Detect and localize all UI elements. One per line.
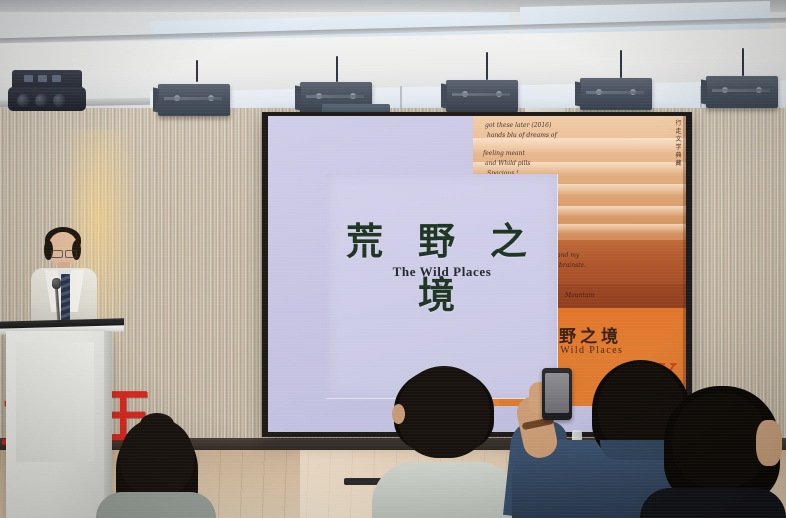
- light-knob-icon: [462, 91, 468, 97]
- slide-english-title: The Wild Places: [328, 264, 556, 280]
- audience-front-left-body: [96, 492, 216, 518]
- handwriting-line: and Whild pills: [485, 160, 530, 167]
- speaker-tie: [61, 274, 70, 322]
- light-knob-icon: [630, 89, 636, 95]
- light-knob-icon: [208, 95, 214, 101]
- ceiling-projector: [8, 70, 86, 112]
- speaker-glasses-icon: [51, 250, 63, 258]
- speaker-glasses-icon: [65, 250, 77, 258]
- handwriting-line: and my: [557, 252, 579, 259]
- stage-light-5: [706, 76, 778, 108]
- cover-edge-line: [683, 116, 686, 406]
- audience-right-face: [756, 420, 782, 466]
- stage-light-1: [158, 84, 230, 116]
- audience-center-left-head: [398, 366, 490, 458]
- light-knob-icon: [350, 93, 356, 99]
- handwriting-line: Mountain: [565, 292, 594, 299]
- light-cable: [620, 50, 622, 78]
- smartphone-screen[interactable]: [545, 373, 569, 413]
- handwriting-line: feeling meant: [483, 150, 525, 157]
- lecture-hall-photo: 麦 法 荒野之境 The Wild Places 自然写作自 文学 行走文学典藏…: [0, 0, 786, 518]
- projector-panel-icon: [24, 75, 33, 82]
- handwriting-line: brainste.: [559, 262, 586, 269]
- audience-front-left-head: [120, 418, 194, 496]
- stage-light-3: [446, 80, 518, 112]
- light-cable: [742, 48, 744, 76]
- light-knob-icon: [174, 95, 180, 101]
- light-cable: [336, 56, 338, 82]
- slide-dot: [440, 284, 442, 286]
- audience-center-left-ear: [392, 404, 405, 424]
- stage-light-4: [580, 78, 652, 110]
- podium-front-panel: [16, 342, 94, 462]
- light-cable: [196, 60, 198, 82]
- projector-panel-icon: [38, 75, 47, 82]
- projector-lens-icon: [35, 94, 48, 107]
- audience-right-body: [640, 488, 786, 518]
- microphone-icon: [52, 278, 61, 289]
- projector-panel-icon: [52, 75, 61, 82]
- light-knob-icon: [722, 87, 728, 93]
- light-knob-icon: [596, 89, 602, 95]
- light-cable: [486, 52, 488, 80]
- handwriting-line: got these later (2016): [485, 122, 551, 129]
- light-knob-icon: [316, 93, 322, 99]
- light-knob-icon: [496, 91, 502, 97]
- light-knob-icon: [756, 87, 762, 93]
- podium-side-edge: [104, 331, 112, 518]
- handwriting-line: hands blu of dreams of: [487, 132, 557, 139]
- audience-right-head: [672, 392, 768, 488]
- projector-lens-icon: [17, 94, 30, 107]
- audience-center-left-body: [372, 462, 520, 518]
- projector-lens-icon: [53, 94, 66, 107]
